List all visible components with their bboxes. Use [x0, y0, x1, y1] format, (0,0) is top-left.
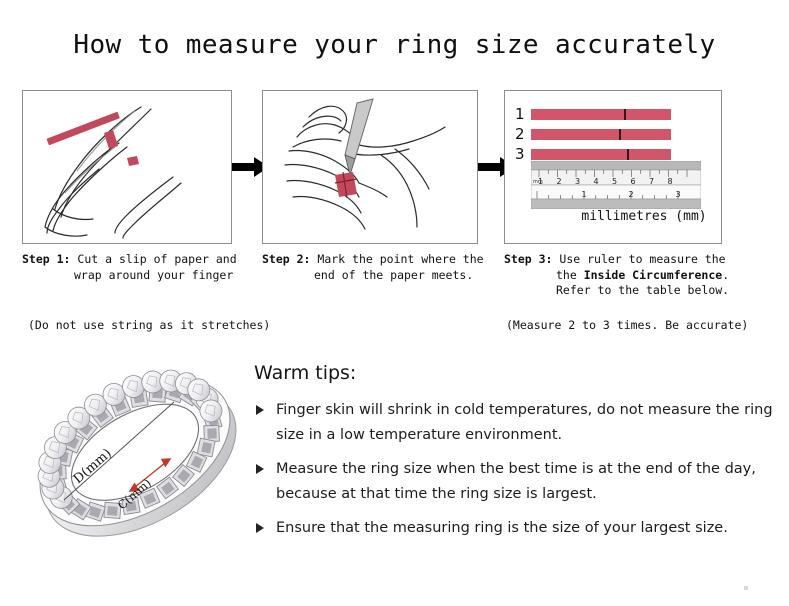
svg-text:2: 2: [628, 190, 633, 199]
step-3-note: (Measure 2 to 3 times. Be accurate): [506, 318, 748, 332]
step-2-illustration-panel: [262, 90, 478, 244]
step-1-illustration-panel: [22, 90, 232, 244]
hand-marking-paper-drawing: [263, 91, 475, 241]
eternity-ring-illustration: D(mm) C(mm): [18, 352, 254, 557]
warm-tip-text: Ensure that the measuring ring is the si…: [276, 520, 728, 536]
step-3-line2-prefix: the: [556, 268, 584, 282]
svg-text:8: 8: [667, 177, 672, 186]
step-3-line3: Refer to the table below.: [504, 283, 766, 299]
ring-size-guide-page: How to measure your ring size accurately: [0, 0, 789, 606]
step-3-caption: Step 3: Use ruler to measure the the Ins…: [504, 252, 766, 299]
measured-strip-row: 1: [515, 105, 671, 123]
warm-tip-item: Measure the ring size when the best time…: [254, 457, 774, 507]
ruler-unit-label: millimetres (mm): [569, 209, 719, 224]
step-3-emphasis: Inside Circumference: [584, 268, 722, 282]
warm-tip-text: Measure the ring size when the best time…: [276, 461, 756, 502]
svg-text:5: 5: [612, 177, 617, 186]
strip-mark: [624, 109, 626, 120]
svg-text:4: 4: [593, 177, 598, 186]
step-1-label: Step 1:: [22, 252, 70, 266]
warm-tip-item: Ensure that the measuring ring is the si…: [254, 516, 774, 541]
triangle-bullet-icon: [256, 523, 264, 533]
paper-strip: [531, 109, 671, 120]
triangle-bullet-icon: [256, 464, 264, 474]
paper-strip: [531, 149, 671, 160]
svg-text:3: 3: [575, 177, 580, 186]
strip-number: 3: [515, 145, 531, 163]
hand-with-paper-strip-drawing: [23, 91, 229, 241]
strip-mark: [619, 129, 621, 140]
step-1-line2: wrap around your finger: [22, 268, 250, 284]
step-2-label: Step 2:: [262, 252, 310, 266]
step-3-line1: Use ruler to measure the: [559, 252, 725, 266]
svg-text:3: 3: [675, 190, 680, 199]
svg-text:6: 6: [630, 177, 635, 186]
triangle-bullet-icon: [256, 405, 264, 415]
step-2-line1: Mark the point where the: [317, 252, 483, 266]
corner-artifact: [744, 586, 748, 590]
step-2-line2: end of the paper meets.: [262, 268, 492, 284]
step-3-illustration-panel: 1 2 3 12345678: [504, 90, 722, 244]
page-title: How to measure your ring size accurately: [0, 30, 789, 60]
step-3-label: Step 3:: [504, 252, 552, 266]
svg-text:7: 7: [649, 177, 654, 186]
svg-text:1: 1: [581, 190, 586, 199]
step-3-line2: the Inside Circumference.: [504, 268, 766, 284]
strip-number: 1: [515, 105, 531, 123]
warm-tip-item: Finger skin will shrink in cold temperat…: [254, 398, 774, 448]
paper-strip: [531, 129, 671, 140]
warm-tip-text: Finger skin will shrink in cold temperat…: [276, 402, 773, 443]
ring-diagram: D(mm) C(mm): [18, 352, 254, 557]
warm-tips-heading: Warm tips:: [254, 362, 774, 384]
strip-mark: [627, 149, 629, 160]
step-1-note: (Do not use string as it stretches): [28, 318, 270, 332]
ruler-graphic: 12345678 mm 123: [531, 161, 701, 209]
warm-tips-section: Warm tips: Finger skin will shrink in co…: [254, 362, 774, 550]
step-2-caption: Step 2: Mark the point where the end of …: [262, 252, 492, 283]
strip-number: 2: [515, 125, 531, 143]
ruler-mm-unit: mm: [533, 179, 543, 185]
measured-strip-row: 2: [515, 125, 671, 143]
step-1-caption: Step 1: Cut a slip of paper and wrap aro…: [22, 252, 250, 283]
step-1-line1: Cut a slip of paper and: [77, 252, 236, 266]
svg-text:2: 2: [556, 177, 561, 186]
step-3-line2-tail: .: [722, 268, 729, 282]
